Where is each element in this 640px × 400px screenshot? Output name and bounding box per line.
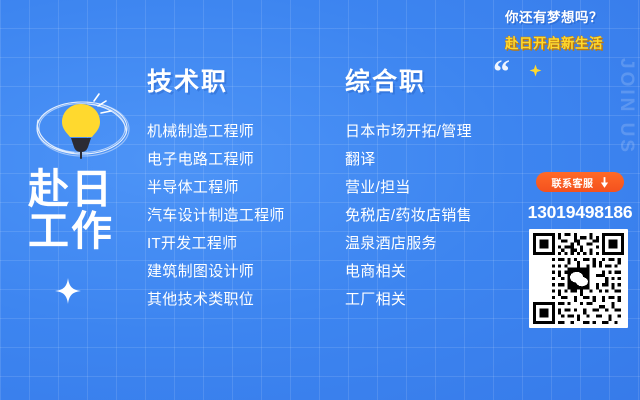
job-list-item[interactable]: 温泉酒店服务 [345,236,472,251]
phone-number[interactable]: 13019498186 [527,202,633,223]
job-list-item[interactable]: 机械制造工程师 [147,124,285,139]
column-title: 综合职 [345,62,472,98]
yellow-star-icon [529,64,542,77]
headline-line-1: 你还有梦想吗？ [505,6,635,26]
headline-line-2: 赴日开启新生活 [505,32,635,52]
poster-canvas: JOIN US 你还有梦想吗？ 赴日开启新生活 “ [0,0,640,400]
job-list-item[interactable]: 工厂相关 [345,292,472,307]
job-list-item[interactable]: 免税店/药妆店销售 [345,208,472,223]
arrow-down-icon [600,177,609,188]
job-list-item[interactable]: 电子电路工程师 [147,152,285,167]
job-column-general: 综合职 日本市场开拓/管理 翻译 营业/担当 免税店/药妆店销售 温泉酒店服务 … [345,62,472,320]
headline-block: 你还有梦想吗？ 赴日开启新生活 [505,6,635,52]
job-list-item[interactable]: 汽车设计制造工程师 [147,208,285,223]
job-list-item[interactable]: 营业/担当 [345,180,472,195]
contact-support-label: 联系客服 [552,175,594,190]
lightbulb-illustration [22,82,142,172]
page-title: 赴日 工作 [28,168,114,252]
job-list-item[interactable]: 其他技术类职位 [147,292,285,307]
contact-support-button[interactable]: 联系客服 [536,172,624,192]
job-list-item[interactable]: 半导体工程师 [147,180,285,195]
job-list-item[interactable]: 建筑制图设计师 [147,264,285,279]
join-us-watermark: JOIN US [615,58,637,155]
job-list-item[interactable]: IT开发工程师 [147,236,285,251]
qr-code[interactable] [529,229,628,328]
brand-line-1: 赴日 [28,168,114,210]
job-list-item[interactable]: 日本市场开拓/管理 [345,124,472,139]
column-title: 技术职 [147,62,285,98]
job-list-item[interactable]: 翻译 [345,152,472,167]
sparkle-star-icon [55,278,81,304]
job-list-item[interactable]: 电商相关 [345,264,472,279]
brand-line-2: 工作 [28,210,114,252]
quotation-mark-icon: “ [493,56,510,90]
qr-code-graphic [533,233,624,324]
job-column-technical: 技术职 机械制造工程师 电子电路工程师 半导体工程师 汽车设计制造工程师 IT开… [147,62,285,320]
